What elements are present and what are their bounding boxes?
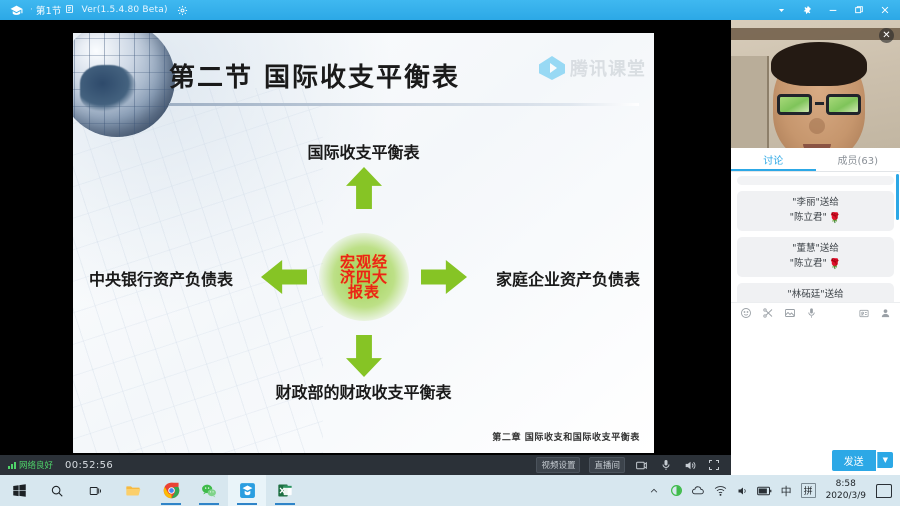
hub-line-3: 报表 bbox=[348, 285, 380, 300]
task-view-button[interactable] bbox=[76, 475, 114, 506]
webcam-nose bbox=[809, 118, 825, 134]
volume-icon[interactable] bbox=[735, 483, 750, 498]
webcam-beam bbox=[731, 28, 900, 40]
rose-icon: 🌹 bbox=[829, 211, 841, 227]
clock-time: 8:58 bbox=[826, 479, 866, 490]
window-controls bbox=[768, 0, 898, 20]
window-titlebar: · 第1节 Ver(1.5.4.80 Beta) bbox=[0, 0, 900, 20]
excel[interactable] bbox=[266, 475, 304, 506]
send-row: 发送 ▼ bbox=[731, 449, 900, 475]
message-line-1: "董慧"送给 bbox=[743, 242, 888, 257]
microphone-icon[interactable] bbox=[658, 458, 673, 473]
clock-date: 2020/3/9 bbox=[826, 491, 866, 502]
video-settings-button[interactable]: 视频设置 bbox=[536, 457, 580, 473]
wechat[interactable] bbox=[190, 475, 228, 506]
diagram-label-left: 中央银行资产负债表 bbox=[89, 266, 233, 290]
brand-label: 腾讯课堂 bbox=[570, 55, 646, 81]
message-line-1: "林砳廷"送给 bbox=[743, 288, 888, 301]
close-circle-icon[interactable]: ✕ bbox=[879, 28, 894, 43]
arrow-left-icon bbox=[261, 260, 307, 294]
start-button[interactable] bbox=[0, 475, 38, 506]
classroom-logo-icon bbox=[539, 56, 565, 80]
close-icon[interactable] bbox=[872, 0, 898, 20]
diagram-label-right: 家庭企业资产负债表 bbox=[496, 266, 640, 290]
card-icon[interactable] bbox=[857, 307, 870, 320]
document-icon bbox=[65, 4, 74, 17]
microphone-icon[interactable] bbox=[805, 307, 818, 320]
stream-quality-button[interactable]: 直播间 bbox=[589, 457, 625, 473]
image-icon[interactable] bbox=[783, 307, 796, 320]
volume-icon[interactable] bbox=[682, 458, 697, 473]
file-explorer[interactable] bbox=[114, 475, 152, 506]
screen: · 第1节 Ver(1.5.4.80 Beta) bbox=[0, 0, 900, 506]
signal-bars-icon bbox=[8, 461, 16, 469]
network-status-label: 网络良好 bbox=[19, 459, 53, 471]
minimize-icon[interactable] bbox=[820, 0, 846, 20]
tab-discussion[interactable]: 讨论 bbox=[731, 148, 816, 171]
cloud-icon[interactable] bbox=[691, 483, 706, 498]
titlebar-title: 第1节 Ver(1.5.4.80 Beta) bbox=[36, 3, 168, 17]
concept-diagram: 国际收支平衡表 中央银行资产负债表 家庭企业资产负债表 财政部的财政收支平衡表 … bbox=[73, 121, 654, 421]
windows-taskbar: 中 拼 8:58 2020/3/9 bbox=[0, 475, 900, 506]
chevron-up-icon[interactable] bbox=[647, 483, 662, 498]
tab-members[interactable]: 成员(63) bbox=[816, 148, 900, 171]
search-button[interactable] bbox=[38, 475, 76, 506]
tencent-classroom[interactable] bbox=[228, 475, 266, 506]
emoji-icon[interactable] bbox=[739, 307, 752, 320]
player-controls: 视频设置 直播间 bbox=[536, 457, 727, 473]
battery-icon[interactable] bbox=[669, 483, 684, 498]
list-item bbox=[737, 176, 894, 185]
list-item: "董慧"送给 "陈立君" 🌹 bbox=[737, 237, 894, 277]
diagram-label-bottom: 财政部的财政收支平衡表 bbox=[73, 379, 654, 403]
slide-footer: 第二章 国际收支和国际收支平衡表 bbox=[492, 430, 640, 443]
presentation-stage[interactable]: 第二节 国际收支平衡表 腾讯课堂 国际收支平衡表 中央银行资产负债表 家庭企业资… bbox=[0, 20, 731, 475]
arrow-right-icon bbox=[421, 260, 467, 294]
tencent-classroom-watermark: 腾讯课堂 bbox=[539, 55, 646, 81]
slide-canvas: 第二节 国际收支平衡表 腾讯课堂 国际收支平衡表 中央银行资产负债表 家庭企业资… bbox=[73, 33, 654, 453]
send-button[interactable]: 发送 bbox=[832, 450, 876, 471]
message-line-2: "陈立君" bbox=[790, 257, 827, 272]
network-status: 网络良好 bbox=[8, 459, 53, 471]
side-panel: ✕ 讨论 成员(63) "李丽"送给 "陈立君" 🌹 "董慧"送给 "陈立君" … bbox=[731, 20, 900, 475]
rose-icon: 🌹 bbox=[829, 257, 841, 273]
pin-icon[interactable] bbox=[794, 0, 820, 20]
fullscreen-icon[interactable] bbox=[706, 458, 721, 473]
player-toolbar: 网络良好 00:52:56 视频设置 直播间 bbox=[0, 455, 731, 475]
webcam-mouth bbox=[803, 144, 831, 148]
wifi-icon[interactable] bbox=[713, 483, 728, 498]
message-line-1: "李丽"送给 bbox=[743, 196, 888, 211]
screenshot-icon[interactable] bbox=[634, 458, 649, 473]
webcam-preview[interactable]: ✕ bbox=[731, 20, 900, 148]
ime-mode-indicator[interactable]: 拼 bbox=[801, 483, 816, 498]
battery-full-icon[interactable] bbox=[757, 483, 772, 498]
session-label: 第1节 bbox=[36, 3, 62, 17]
message-line-2: "陈立君" bbox=[790, 211, 827, 226]
webcam-door-frame bbox=[731, 56, 769, 148]
notification-icon[interactable] bbox=[876, 484, 892, 498]
person-icon[interactable] bbox=[879, 307, 892, 320]
elapsed-time: 00:52:56 bbox=[65, 460, 113, 471]
ime-language-indicator[interactable]: 中 bbox=[779, 483, 794, 498]
chat-scrollbar[interactable] bbox=[896, 174, 899, 220]
chevron-down-icon[interactable] bbox=[768, 0, 794, 20]
list-item: "林砳廷"送给 "陈立君" 🌹 bbox=[737, 283, 894, 301]
chat-toolbar bbox=[731, 302, 900, 324]
chat-input[interactable] bbox=[731, 324, 900, 450]
graduation-cap-icon bbox=[8, 2, 24, 18]
chat-message-list[interactable]: "李丽"送给 "陈立君" 🌹 "董慧"送给 "陈立君" 🌹 "林砳廷"送给 "陈… bbox=[731, 172, 900, 302]
arrow-up-icon bbox=[346, 167, 382, 209]
chrome[interactable] bbox=[152, 475, 190, 506]
scissors-icon[interactable] bbox=[761, 307, 774, 320]
title-divider bbox=[169, 103, 639, 106]
panel-tabs: 讨论 成员(63) bbox=[731, 148, 900, 172]
gear-icon[interactable] bbox=[176, 3, 190, 17]
chevron-down-icon[interactable]: ▼ bbox=[877, 452, 893, 468]
titlebar-separator: · bbox=[30, 5, 33, 15]
webcam-hair bbox=[771, 42, 867, 86]
taskbar-clock[interactable]: 8:58 2020/3/9 bbox=[826, 479, 866, 502]
system-tray: 中 拼 8:58 2020/3/9 bbox=[647, 475, 900, 506]
webcam-glasses bbox=[777, 94, 861, 116]
diagram-hub: 宏观经 济四大 报表 bbox=[319, 233, 409, 321]
diagram-label-top: 国际收支平衡表 bbox=[73, 139, 654, 163]
page-title: 第二节 国际收支平衡表 bbox=[169, 57, 460, 94]
list-item: "李丽"送给 "陈立君" 🌹 bbox=[737, 191, 894, 231]
maximize-icon[interactable] bbox=[846, 0, 872, 20]
version-label: Ver(1.5.4.80 Beta) bbox=[82, 5, 168, 15]
arrow-down-icon bbox=[346, 335, 382, 377]
